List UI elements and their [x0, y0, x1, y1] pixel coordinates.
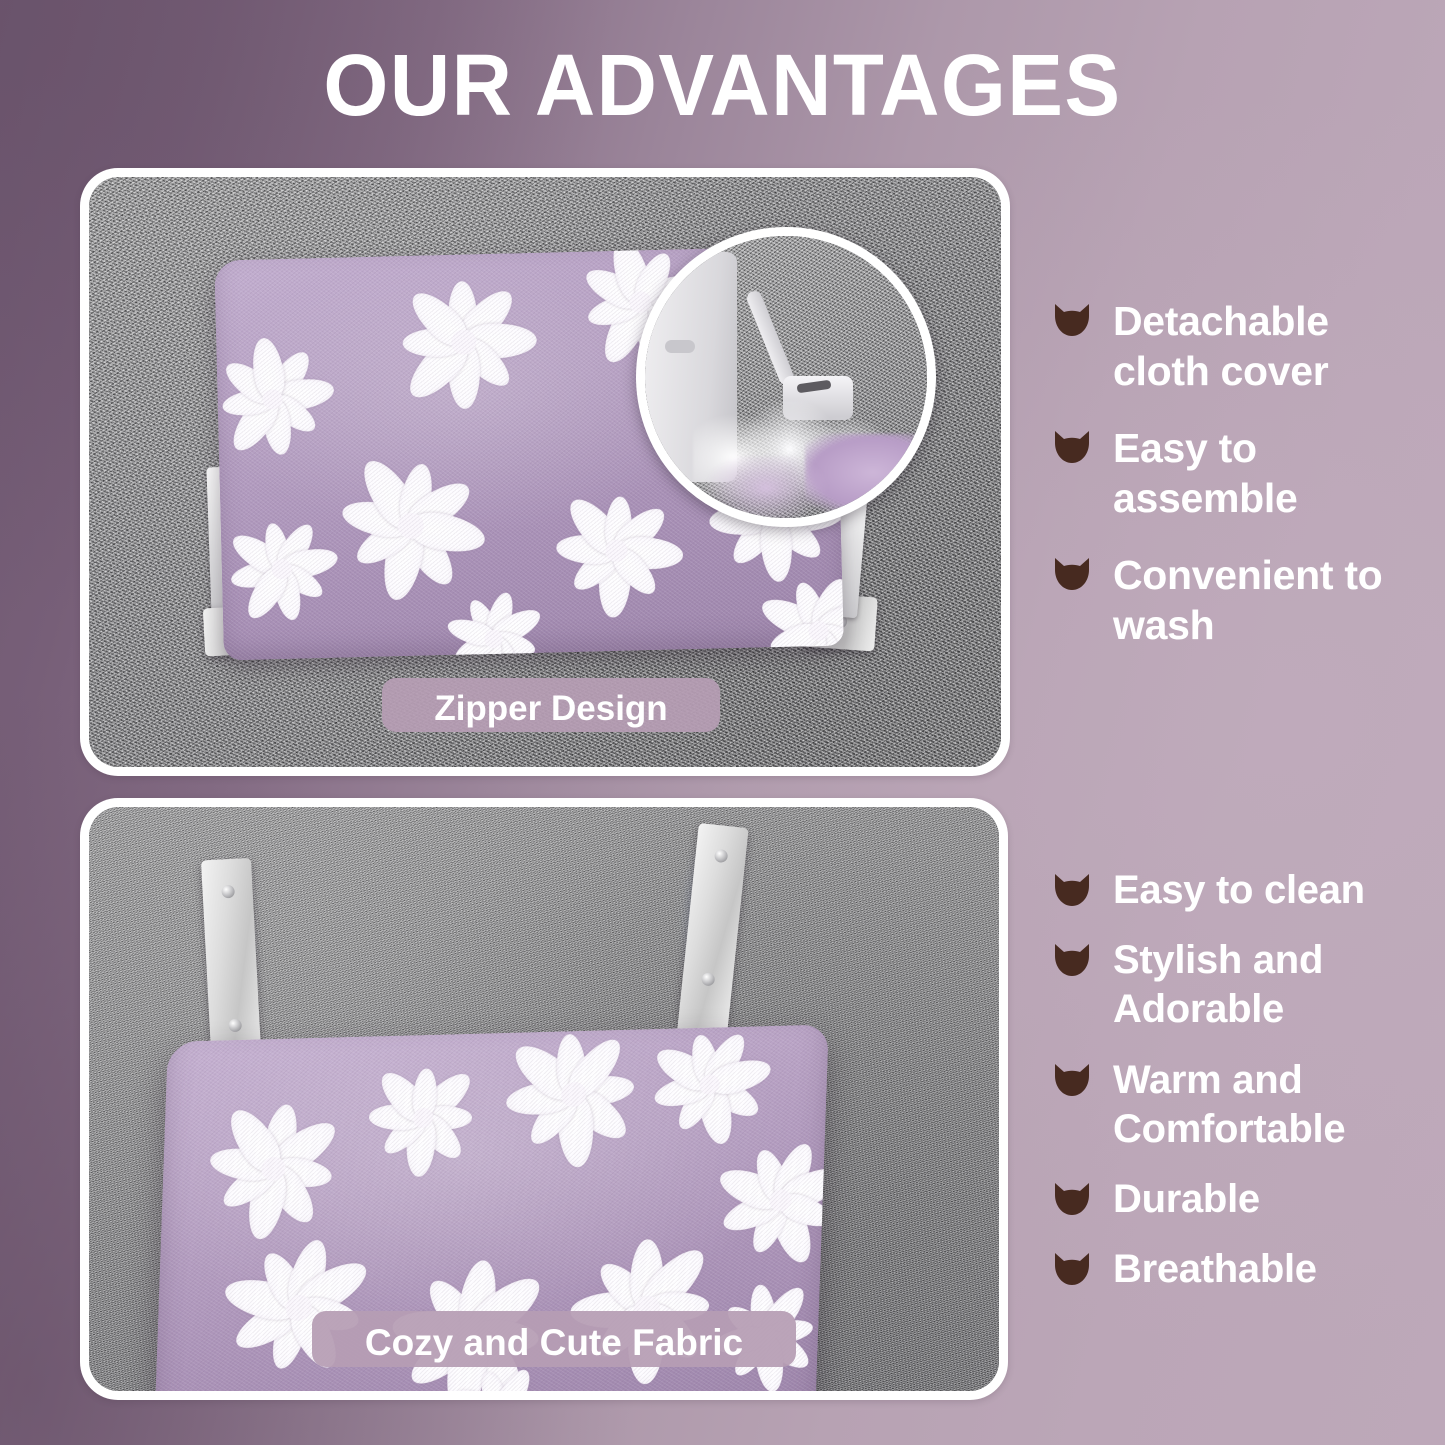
flower-petal	[563, 1082, 635, 1148]
flower-petal	[271, 519, 320, 576]
advantages-list-bottom: Easy to clean Stylish and Adorable Warm …	[1053, 866, 1431, 1315]
flower-petal	[404, 284, 475, 353]
flower-center	[769, 1189, 792, 1212]
flower-center	[261, 1157, 286, 1182]
list-item-label: Detachable cloth cover	[1113, 296, 1423, 397]
list-item: Easy to assemble	[1053, 423, 1423, 524]
flower-petal	[775, 1159, 829, 1215]
list-item: Breathable	[1053, 1245, 1431, 1294]
flower-petal	[207, 1144, 277, 1184]
flower-icon	[642, 1024, 777, 1151]
flower-petal	[719, 1187, 786, 1238]
flower-petal	[789, 579, 829, 635]
flower-petal	[813, 596, 843, 645]
flower-petal	[463, 323, 537, 360]
flower-icon	[214, 333, 339, 466]
flower-petal	[402, 474, 478, 540]
list-item-label: Easy to assemble	[1113, 423, 1423, 524]
flower-petal	[256, 1247, 312, 1316]
flower-petal	[477, 1369, 511, 1391]
flower-petal	[630, 1239, 664, 1310]
flower-icon	[329, 444, 493, 608]
flower-petal	[556, 1092, 596, 1169]
photo-bottom-inner	[89, 807, 999, 1391]
flower-petal	[400, 330, 476, 407]
flower-petal	[279, 544, 340, 583]
flower-petal	[270, 375, 336, 414]
flower-petal	[266, 389, 321, 438]
cat-head-icon	[1053, 1182, 1091, 1216]
flower-petal	[242, 1166, 290, 1241]
flower-petal	[396, 462, 438, 529]
flower-petal	[672, 1079, 720, 1135]
flower-petal	[448, 281, 478, 342]
zipper-closeup-inset	[636, 227, 936, 527]
flower-petal	[750, 1145, 793, 1206]
flower-petal	[555, 533, 617, 566]
caption-cozy-cute-fabric: Cozy and Cute Fabric	[312, 1311, 796, 1367]
flower-icon	[220, 508, 343, 631]
advantages-list-top: Detachable cloth cover Easy to assemble …	[1053, 296, 1423, 677]
flower-icon	[358, 1053, 488, 1181]
flower-petal	[266, 1304, 313, 1372]
flower-petal	[567, 541, 625, 597]
flower-icon	[708, 1129, 829, 1273]
flower-petal	[422, 1106, 472, 1130]
flower-petal	[373, 1065, 433, 1127]
flower-petal	[634, 1241, 714, 1321]
inset-lavender-fabric-2	[701, 456, 831, 527]
flower-petal	[405, 1117, 437, 1176]
flower-center	[808, 620, 829, 641]
flower-petal	[258, 1102, 302, 1171]
flower-petal	[217, 1158, 282, 1215]
flower-petal	[225, 391, 285, 458]
screw-icon	[701, 972, 715, 986]
cat-head-icon	[1053, 943, 1091, 977]
flower-petal	[464, 596, 503, 644]
flower-petal	[403, 328, 464, 358]
flower-petal	[221, 1273, 304, 1326]
flower-petal	[766, 1194, 819, 1267]
flower-petal	[407, 508, 489, 559]
page-title: OUR ADVANTAGES	[29, 42, 1416, 129]
flower-center	[262, 389, 283, 410]
flower-petal	[573, 1072, 636, 1109]
list-item-label: Durable	[1113, 1175, 1260, 1224]
flower-petal	[219, 356, 280, 411]
flower-petal	[687, 1032, 721, 1087]
flower-petal	[413, 1108, 468, 1165]
flower-petal	[607, 542, 663, 600]
flower-petal	[603, 495, 633, 551]
flower-petal	[350, 513, 419, 572]
screw-icon	[221, 885, 235, 899]
flower-petal	[483, 590, 518, 642]
list-item-label: Stylish and Adorable	[1113, 936, 1431, 1034]
flower-petal	[506, 1079, 575, 1120]
flower-petal	[271, 1155, 334, 1191]
flower-petal	[523, 1086, 585, 1152]
cat-hammock-fabric-photo	[80, 798, 1008, 1400]
cat-head-icon	[1053, 430, 1091, 464]
flower-petal	[220, 387, 274, 419]
flower-petal	[340, 496, 414, 542]
flower-petal	[414, 1066, 477, 1128]
flower-petal	[707, 1054, 774, 1099]
cat-head-icon	[1053, 1063, 1091, 1097]
flower-petal	[650, 1041, 718, 1097]
flower-petal	[397, 517, 463, 593]
list-item-label: Breathable	[1113, 1245, 1317, 1294]
flower-petal	[227, 527, 290, 581]
flower-icon	[384, 263, 543, 422]
cat-head-icon	[1053, 1252, 1091, 1286]
list-item-label: Convenient to wash	[1113, 550, 1423, 651]
flower-petal	[368, 1104, 424, 1130]
screw-icon	[228, 1019, 242, 1033]
flower-petal	[806, 574, 844, 636]
flower-petal	[746, 1196, 793, 1257]
list-item-label: Easy to clean	[1113, 866, 1365, 915]
flower-petal	[615, 535, 683, 571]
flower-petal	[775, 1188, 829, 1232]
flower-petal	[448, 342, 482, 410]
flower-petal	[714, 1161, 788, 1215]
flower-petal	[240, 562, 294, 625]
flower-petal	[262, 346, 317, 407]
flower-petal	[228, 557, 284, 592]
screw-icon	[713, 849, 727, 863]
cat-head-icon	[1053, 557, 1091, 591]
flower-center	[272, 559, 292, 579]
list-item: Detachable cloth cover	[1053, 296, 1423, 397]
flower-petal	[261, 521, 293, 572]
flower-petal	[230, 1294, 307, 1358]
flower-petal	[454, 332, 518, 395]
flower-petal	[378, 1109, 430, 1160]
flower-petal	[555, 1033, 588, 1097]
flower-center	[561, 1082, 587, 1107]
flower-petal	[270, 566, 305, 622]
flower-petal	[561, 491, 629, 562]
flower-petal	[264, 1113, 342, 1183]
flower-petal	[768, 1139, 820, 1206]
flower-petal	[584, 290, 644, 331]
flower-center	[699, 1074, 721, 1095]
flower-petal	[445, 614, 497, 649]
flower-petal	[580, 261, 647, 315]
flower-icon	[493, 1024, 654, 1174]
flower-petal	[354, 453, 426, 536]
caption-zipper-design: Zipper Design	[382, 678, 720, 732]
flower-center	[398, 513, 424, 539]
flower-petal	[702, 1073, 764, 1124]
flower-petal	[652, 1072, 713, 1113]
flower-petal	[378, 522, 429, 604]
flower-petal	[596, 550, 632, 618]
flower-center	[605, 539, 628, 562]
flower-petal	[695, 1081, 737, 1148]
cat-head-icon	[1053, 303, 1091, 337]
flower-petal	[562, 1032, 630, 1105]
flower-petal	[276, 560, 328, 604]
flower-petal	[698, 1029, 751, 1091]
flower-center	[485, 630, 503, 648]
flower-petal	[488, 603, 546, 650]
flower-petal	[411, 1069, 438, 1118]
cat-head-icon	[1053, 873, 1091, 907]
flower-petal	[448, 1383, 506, 1391]
flower-petal	[283, 1237, 335, 1312]
flower-petal	[452, 282, 521, 353]
flower-petal	[220, 1102, 287, 1179]
flower-center	[285, 1295, 312, 1321]
flower-petal	[507, 1036, 586, 1109]
flower-petal	[756, 592, 824, 644]
list-item: Durable	[1053, 1175, 1431, 1224]
flower-petal	[489, 1365, 537, 1391]
flower-petal	[260, 1160, 321, 1231]
flower-petal	[248, 336, 287, 402]
list-item: Easy to clean	[1053, 866, 1431, 915]
flower-icon	[437, 583, 550, 661]
flower-center	[412, 1107, 433, 1128]
flower-center	[451, 329, 476, 354]
list-item-label: Warm and Comfortable	[1113, 1056, 1431, 1154]
flower-icon	[196, 1092, 351, 1246]
list-item: Convenient to wash	[1053, 550, 1423, 651]
list-item: Warm and Comfortable	[1053, 1056, 1431, 1154]
flower-petal	[259, 397, 295, 457]
list-item: Stylish and Adorable	[1053, 936, 1431, 1034]
